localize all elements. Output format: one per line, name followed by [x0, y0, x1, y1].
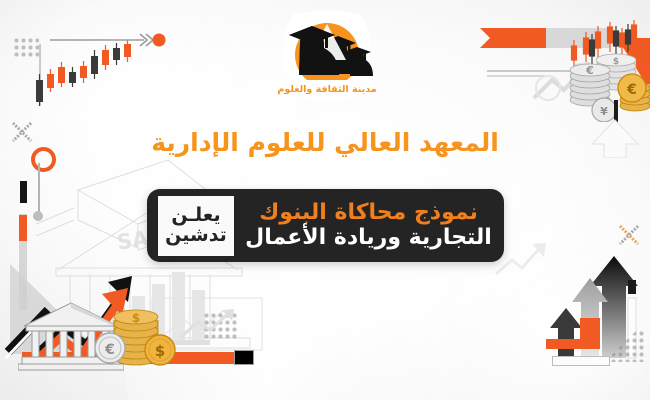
gray-arrow-up-right-top [530, 60, 600, 104]
white-bar-bottom-right [552, 356, 610, 366]
candlestick-chart-top-right [568, 18, 644, 76]
x-motif-bottom-right [616, 222, 642, 248]
svg-text:$: $ [613, 57, 619, 67]
banner-line-1: نموذج محاكاة البنوك [259, 201, 478, 225]
coin-stacks-top-right: $ € ¥ € [560, 52, 650, 122]
svg-text:¥: ¥ [600, 105, 608, 118]
gray-dot-marker [33, 211, 43, 221]
svg-text:$: $ [132, 311, 140, 325]
announce-line-1: يعلـن [171, 206, 220, 226]
black-stripe-bottom-left [4, 300, 64, 360]
announce-box: يعلـن تدشين [156, 194, 236, 258]
gray-line-top-right [487, 70, 587, 72]
growth-arrows-black-and-orange [30, 236, 160, 366]
banner-line-2: التجارية وريادة الأعمال [245, 226, 492, 250]
announce-line-2: تدشين [165, 226, 227, 246]
announcement-banner: يعلـن تدشين نموذج محاكاة البنوك التجارية… [147, 189, 504, 262]
logo-ribbon-text: مدينة الثقافة والعلوم [277, 84, 376, 95]
dot-grid-top-left [13, 37, 39, 59]
black-bar-left-upper [20, 181, 27, 203]
orange-bar-left [19, 215, 27, 241]
candlestick-chart-top-left [28, 36, 158, 111]
dot-grid-bottom-right [610, 330, 644, 362]
orange-baseline-bar [22, 352, 236, 364]
black-block-end-cap [234, 350, 254, 365]
ring-stem-line [38, 163, 40, 213]
orange-banner-shape-top-right [480, 24, 625, 64]
gray-line-top-right-2 [487, 75, 545, 77]
page-title: المعهد العالي للعلوم الإدارية [0, 128, 650, 157]
svg-text:€: € [626, 82, 637, 98]
dot-grid-mid [203, 312, 239, 341]
gray-arrow-with-orange-dot [48, 31, 166, 51]
orange-block-bottom-right [580, 318, 600, 349]
poster-canvas: SAM [0, 0, 650, 400]
orange-triangle-top-right [615, 36, 650, 102]
gray-wedge-bottom-left [10, 228, 130, 358]
institute-logo: مدينة الثقافة والعلوم [272, 8, 382, 113]
banner-text-block: نموذج محاكاة البنوك التجارية وريادة الأع… [238, 201, 495, 250]
